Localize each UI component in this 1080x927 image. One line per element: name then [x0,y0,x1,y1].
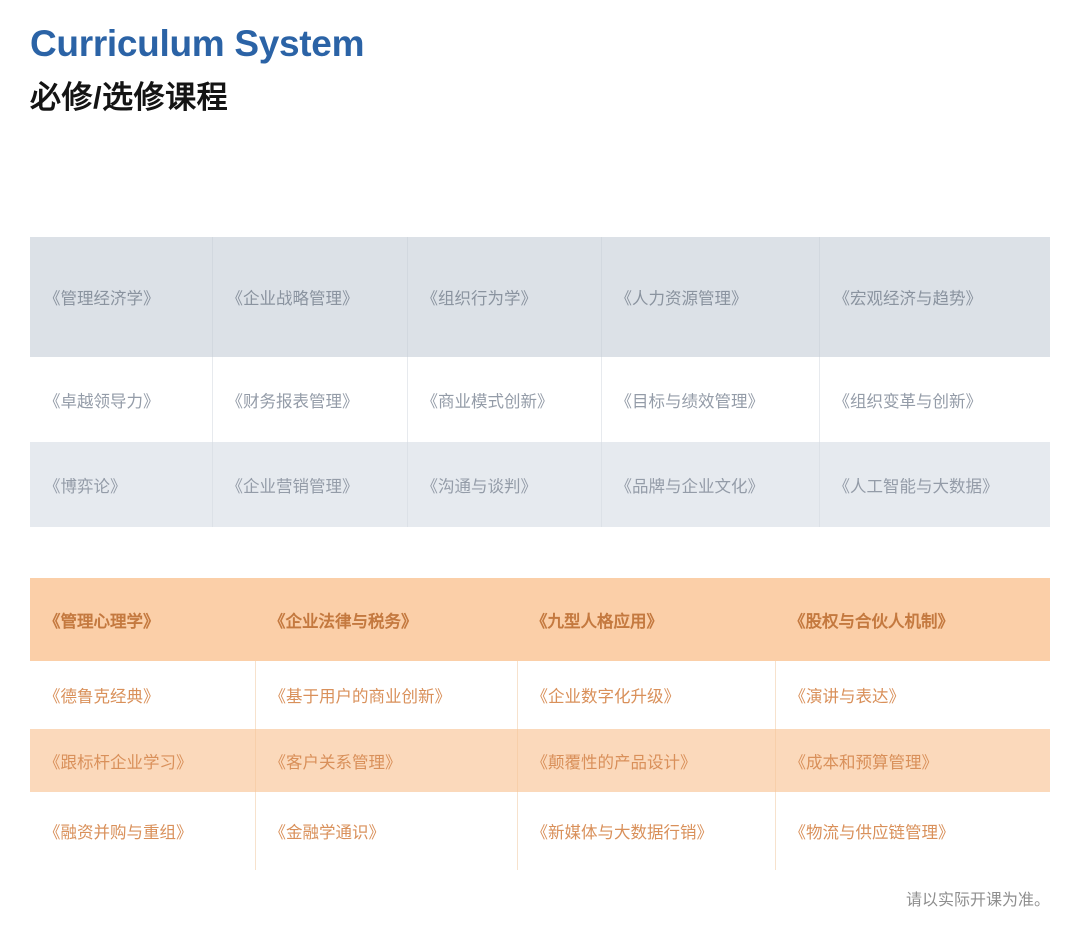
table-cell: 《演讲与表达》 [775,661,1050,729]
table-row: 《卓越领导力》 《财务报表管理》 《商业模式创新》 《目标与绩效管理》 《组织变… [30,357,1050,442]
table-cell: 《卓越领导力》 [30,357,212,442]
table-cell: 《跟标杆企业学习》 [30,729,255,792]
table-cell: 《股权与合伙人机制》 [775,578,1050,661]
elective-courses-table: 《管理心理学》 《企业法律与税务》 《九型人格应用》 《股权与合伙人机制》 《德… [30,578,1050,870]
table-cell: 《企业数字化升级》 [517,661,775,729]
table-row-header: 《管理心理学》 《企业法律与税务》 《九型人格应用》 《股权与合伙人机制》 [30,578,1050,661]
table-cell: 《组织行为学》 [407,237,601,357]
table-cell: 《企业法律与税务》 [255,578,517,661]
table-row: 《跟标杆企业学习》 《客户关系管理》 《颠覆性的产品设计》 《成本和预算管理》 [30,729,1050,792]
required-courses-table: 《管理经济学》 《企业战略管理》 《组织行为学》 《人力资源管理》 《宏观经济与… [30,237,1050,527]
page-title-english: Curriculum System [30,22,364,66]
page-title-chinese: 必修/选修课程 [30,77,364,119]
table-row: 《德鲁克经典》 《基于用户的商业创新》 《企业数字化升级》 《演讲与表达》 [30,661,1050,729]
table-row-header: 《管理经济学》 《企业战略管理》 《组织行为学》 《人力资源管理》 《宏观经济与… [30,237,1050,357]
curriculum-page: Curriculum System 必修/选修课程 《管理经济学》 《企业战略管… [0,0,1080,927]
table-cell: 《人工智能与大数据》 [819,442,1050,527]
table-cell: 《客户关系管理》 [255,729,517,792]
table-cell: 《金融学通识》 [255,792,517,870]
table-cell: 《博弈论》 [30,442,212,527]
table-cell: 《沟通与谈判》 [407,442,601,527]
table-cell: 《品牌与企业文化》 [601,442,819,527]
table-cell: 《德鲁克经典》 [30,661,255,729]
table-cell: 《组织变革与创新》 [819,357,1050,442]
table-cell: 《基于用户的商业创新》 [255,661,517,729]
table-cell: 《九型人格应用》 [517,578,775,661]
table-cell: 《颠覆性的产品设计》 [517,729,775,792]
table-cell: 《成本和预算管理》 [775,729,1050,792]
table-row: 《融资并购与重组》 《金融学通识》 《新媒体与大数据行销》 《物流与供应链管理》 [30,792,1050,870]
table-cell: 《人力资源管理》 [601,237,819,357]
table-cell: 《企业战略管理》 [212,237,407,357]
footnote-disclaimer: 请以实际开课为准。 [906,886,1050,910]
table-cell: 《新媒体与大数据行销》 [517,792,775,870]
table-cell: 《融资并购与重组》 [30,792,255,870]
table-cell: 《企业营销管理》 [212,442,407,527]
table-row: 《博弈论》 《企业营销管理》 《沟通与谈判》 《品牌与企业文化》 《人工智能与大… [30,442,1050,527]
table-cell: 《管理经济学》 [30,237,212,357]
table-cell: 《物流与供应链管理》 [775,792,1050,870]
table-cell: 《目标与绩效管理》 [601,357,819,442]
page-title-block: Curriculum System 必修/选修课程 [30,22,364,119]
table-cell: 《宏观经济与趋势》 [819,237,1050,357]
table-cell: 《财务报表管理》 [212,357,407,442]
table-cell: 《商业模式创新》 [407,357,601,442]
table-cell: 《管理心理学》 [30,578,255,661]
